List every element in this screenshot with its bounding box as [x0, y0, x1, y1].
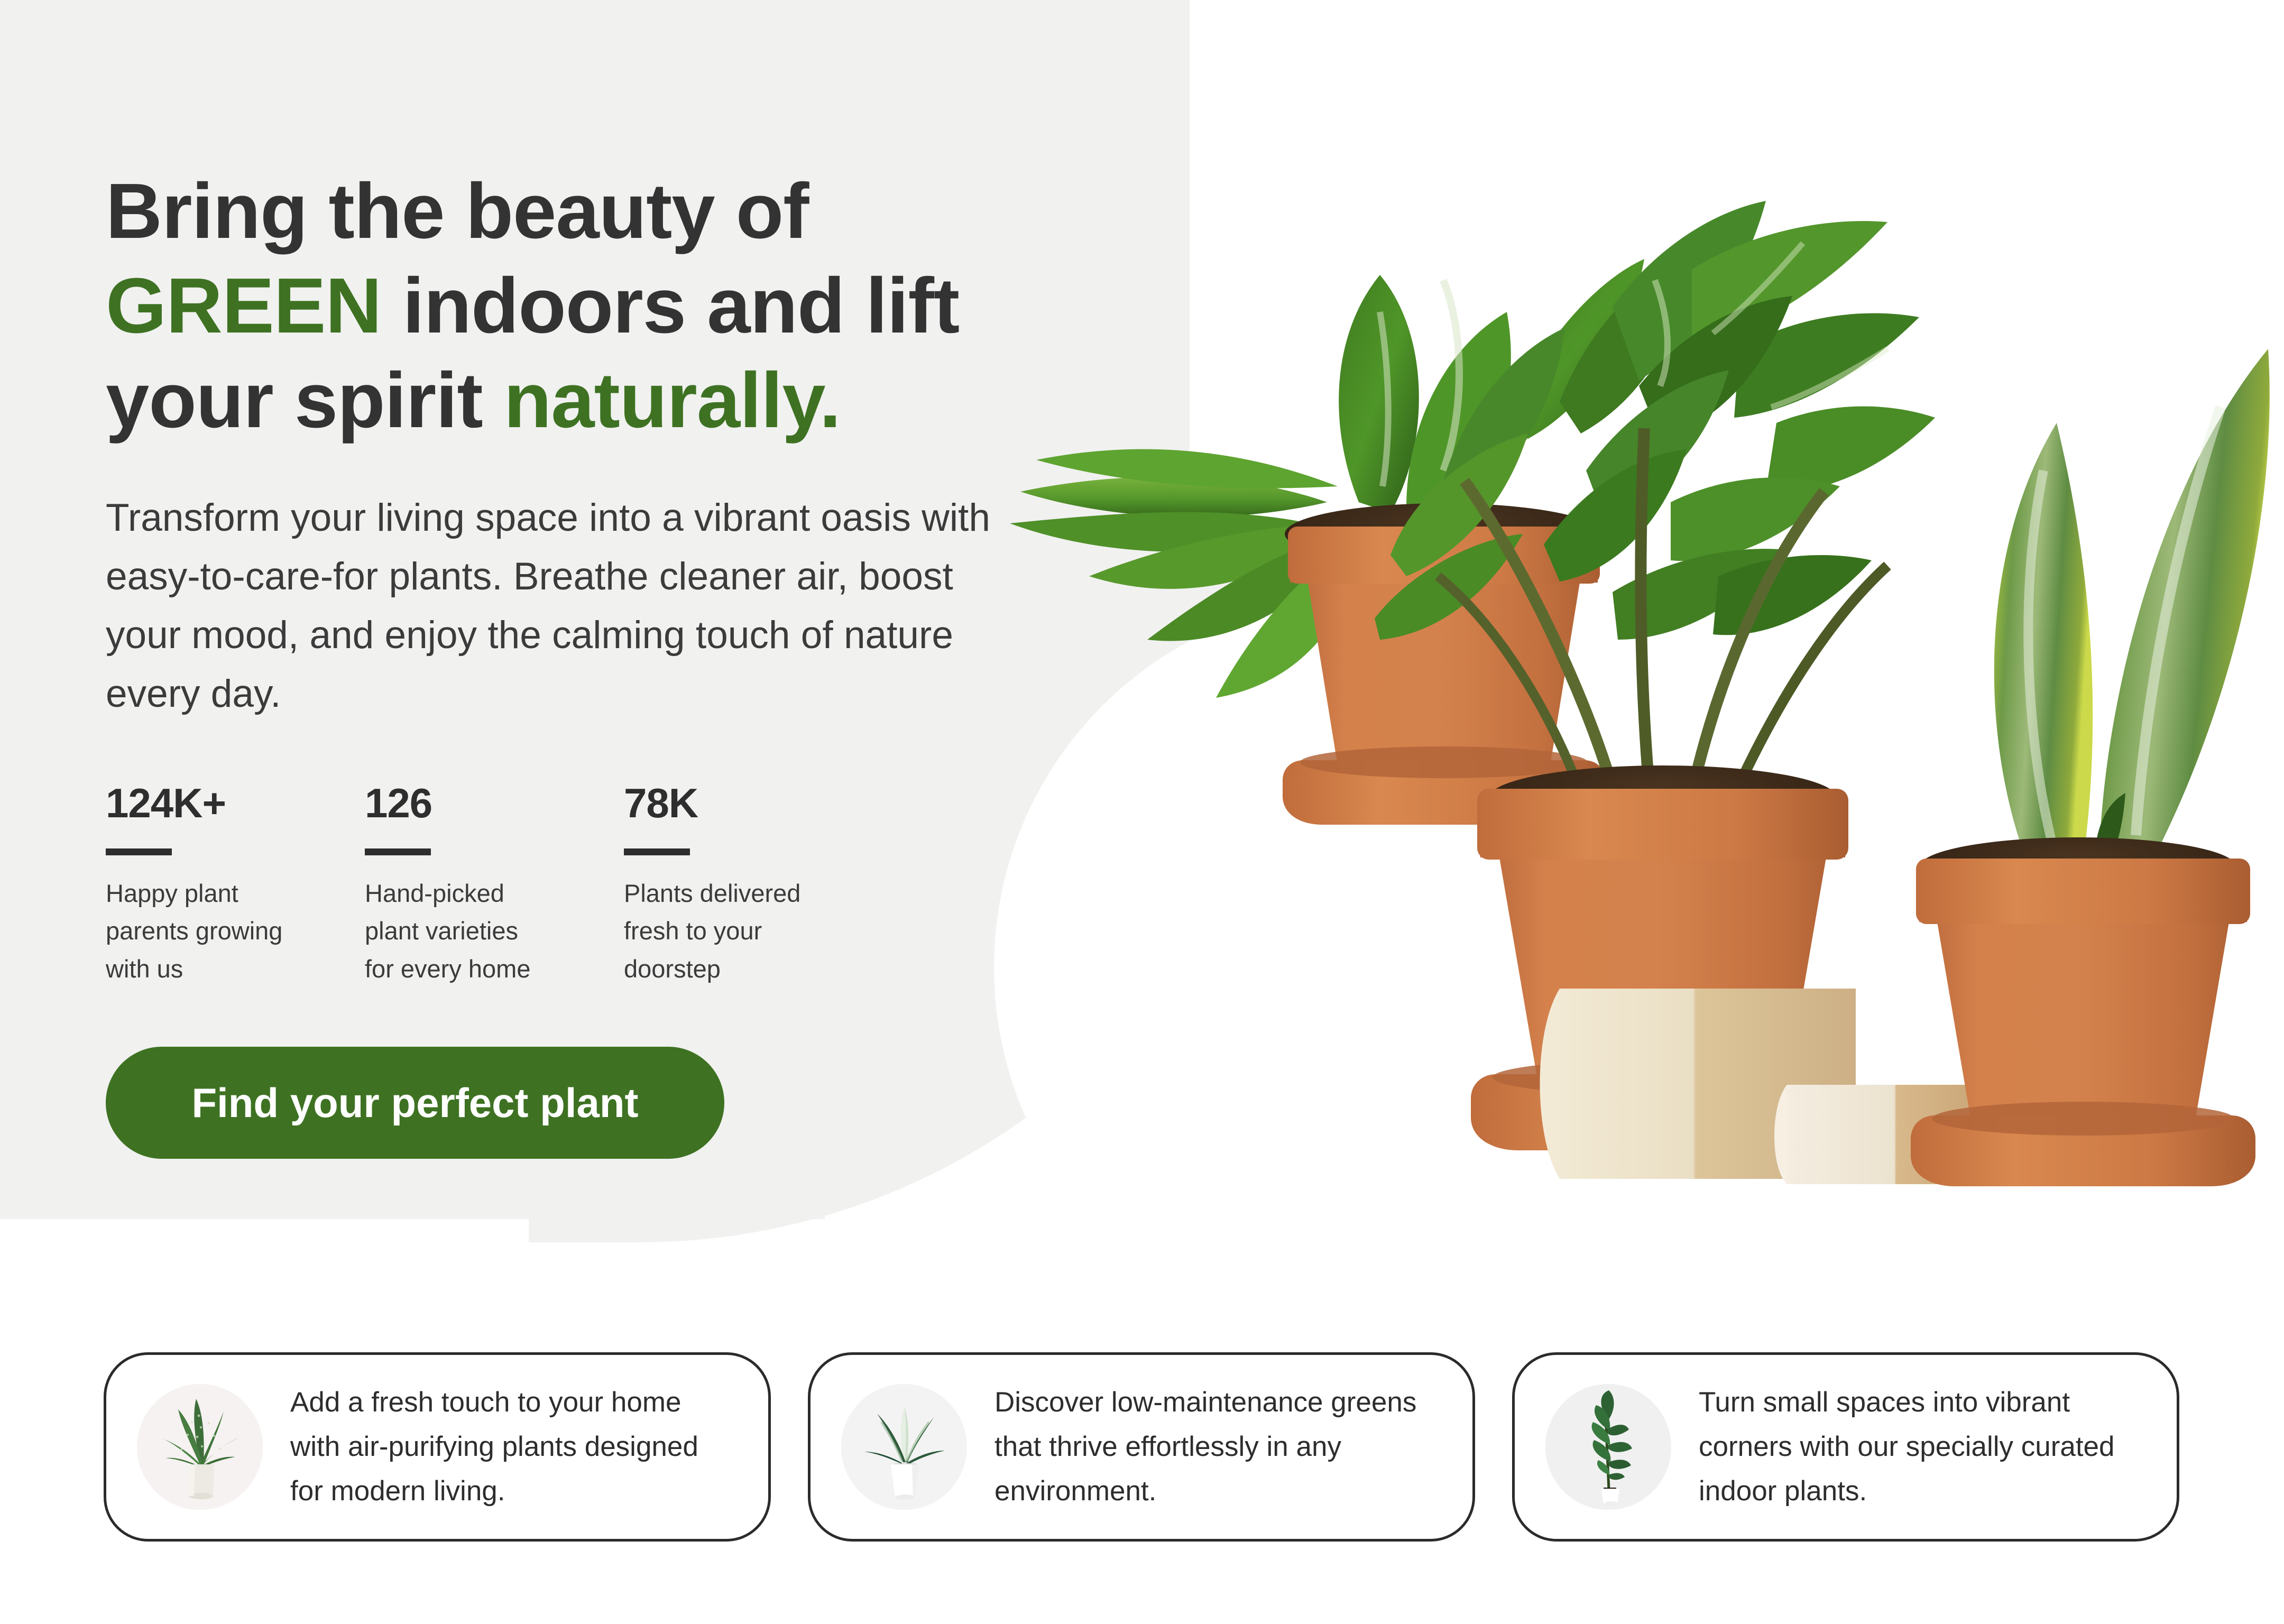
landing-page: Bring the beauty of GREEN indoors and li… — [0, 0, 2284, 1624]
hero-content: Bring the beauty of GREEN indoors and li… — [106, 0, 1163, 1159]
hero-section: Bring the beauty of GREEN indoors and li… — [0, 0, 2284, 1221]
stat-divider — [624, 848, 690, 855]
stat-item: 78K Plants delivered fresh to your doors… — [624, 779, 883, 988]
snake-plant-icon — [841, 1384, 967, 1510]
hero-plant-photo — [989, 174, 2284, 1205]
feature-card[interactable]: Turn small spaces into vibrant corners w… — [1512, 1352, 2179, 1542]
stat-divider — [365, 848, 431, 855]
stat-description: Plants delivered fresh to your doorstep — [624, 874, 804, 988]
feature-card-text: Add a fresh touch to your home with air-… — [290, 1380, 735, 1513]
right-snake-plant — [1911, 349, 2270, 1186]
hero-subcopy: Transform your living space into a vibra… — [106, 489, 994, 724]
feature-card[interactable]: Add a fresh touch to your home with air-… — [104, 1352, 771, 1542]
headline-line-2-rest: indoors and lift — [381, 262, 959, 349]
page-title: Bring the beauty of GREEN indoors and li… — [106, 164, 1163, 448]
stat-item: 126 Hand-picked plant varieties for ever… — [365, 779, 624, 988]
feature-card-text: Discover low-maintenance greens that thr… — [994, 1380, 1440, 1513]
stat-value: 78K — [624, 779, 883, 827]
stat-item: 124K+ Happy plant parents growing with u… — [106, 779, 365, 988]
find-your-perfect-plant-button[interactable]: Find your perfect plant — [106, 1047, 724, 1159]
headline-accent-green: GREEN — [106, 262, 381, 349]
stat-value: 124K+ — [106, 779, 365, 827]
headline-line-3: your spirit — [106, 357, 504, 444]
headline-accent-naturally: naturally. — [504, 357, 841, 444]
feature-cards: Add a fresh touch to your home with air-… — [104, 1352, 2179, 1542]
aloe-plant-icon — [137, 1384, 263, 1510]
stat-value: 126 — [365, 779, 624, 827]
fiddle-leaf-plant-icon — [1545, 1384, 1671, 1510]
headline-line-1: Bring the beauty of — [106, 168, 808, 255]
stat-description: Happy plant parents growing with us — [106, 874, 285, 988]
stats-group: 124K+ Happy plant parents growing with u… — [106, 779, 1163, 988]
feature-card[interactable]: Discover low-maintenance greens that thr… — [808, 1352, 1475, 1542]
stat-divider — [106, 848, 172, 855]
stat-description: Hand-picked plant varieties for every ho… — [365, 874, 545, 988]
feature-card-text: Turn small spaces into vibrant corners w… — [1699, 1380, 2144, 1513]
